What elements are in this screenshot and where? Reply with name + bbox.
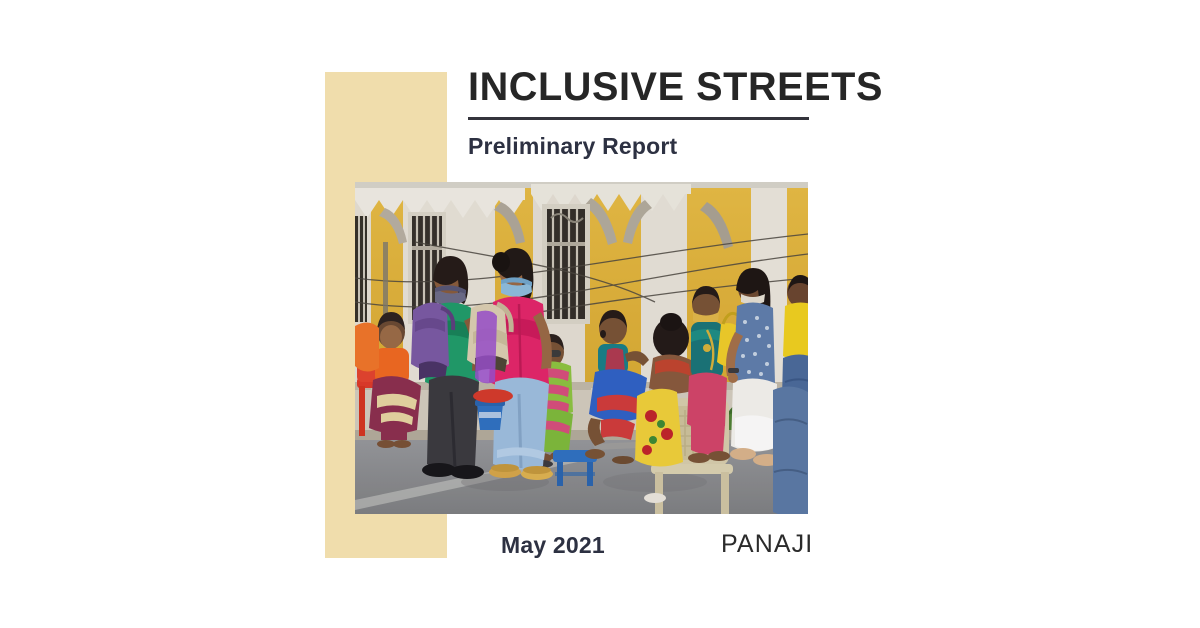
publication-date: May 2021 — [501, 532, 605, 559]
cover-photo-illustration — [355, 182, 808, 514]
page-title: INCLUSIVE STREETS — [468, 66, 807, 108]
title-block: INCLUSIVE STREETS Preliminary Report — [468, 66, 810, 160]
page-subtitle: Preliminary Report — [468, 134, 810, 159]
report-cover-page: INCLUSIVE STREETS Preliminary Report — [0, 0, 1200, 628]
city-label: PANAJI — [721, 530, 813, 559]
cover-photo — [355, 182, 808, 514]
title-divider — [468, 117, 809, 120]
